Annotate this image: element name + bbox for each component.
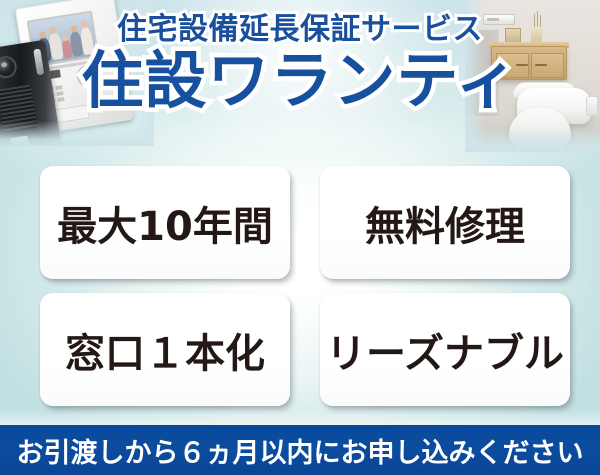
feature-box-max-years[interactable]: 最大10年間 (40, 166, 290, 279)
feature-grid: 最大10年間 無料修理 窓口１本化 リーズナブル (40, 166, 570, 406)
feature-box-single-contact[interactable]: 窓口１本化 (40, 293, 290, 406)
feature-label: 無料修理 (365, 194, 525, 252)
service-title: 住設ワランティ (0, 48, 600, 115)
headline-block: 住宅設備延長保証サービス 住設ワランティ (0, 14, 600, 114)
feature-label: リーズナブル (326, 321, 564, 379)
feature-label: 最大10年間 (57, 194, 273, 252)
photo-bottom-fade (0, 121, 154, 146)
warranty-service-banner: 住宅設備延長保証サービス 住設ワランティ 最大10年間 無料修理 窓口１本化 リ… (0, 0, 600, 475)
photo-bottom-fade (465, 127, 600, 152)
feature-box-free-repair[interactable]: 無料修理 (320, 166, 570, 279)
application-deadline-text: お引渡しから６ヵ月以内にお申し込みください (17, 431, 584, 470)
feature-label: 窓口１本化 (65, 321, 265, 379)
service-subtitle: 住宅設備延長保証サービス (0, 14, 600, 46)
application-deadline-bar: お引渡しから６ヵ月以内にお申し込みください (0, 425, 600, 475)
feature-box-reasonable[interactable]: リーズナブル (320, 293, 570, 406)
